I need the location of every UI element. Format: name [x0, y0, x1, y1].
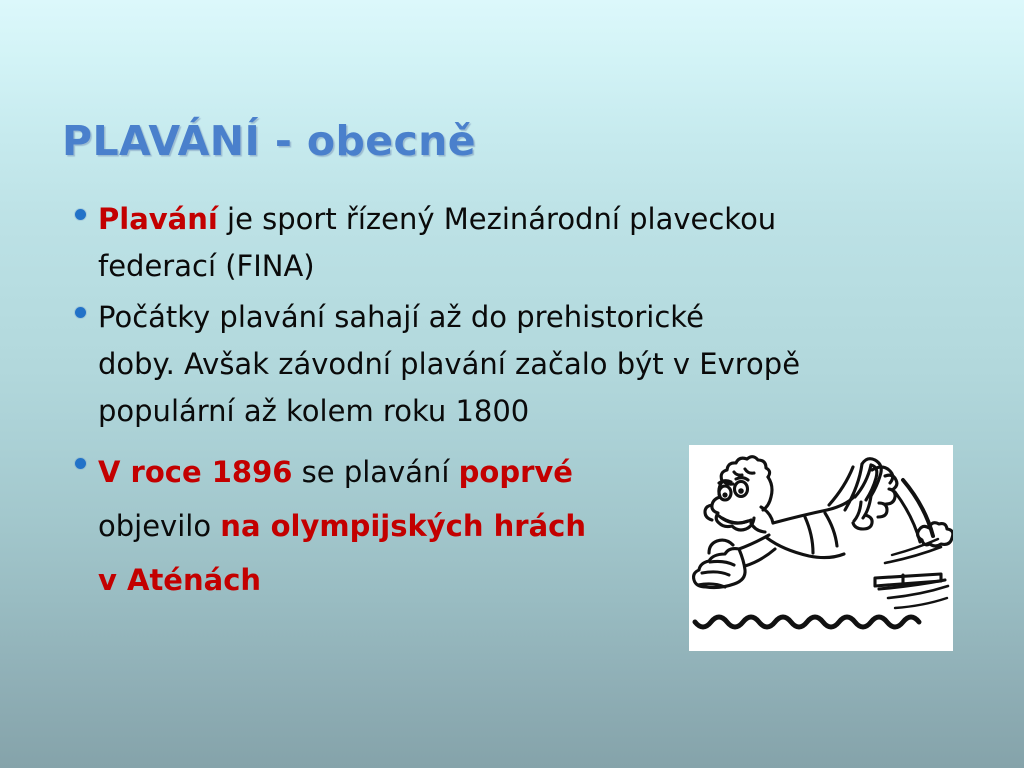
bullet-text-run: federací (FINA)	[98, 249, 315, 283]
bullet-dot-icon	[75, 209, 86, 220]
bullet-text-run: poprvé	[459, 455, 573, 489]
bullet-line: Plavání je sport řízený Mezinárodní plav…	[98, 196, 666, 243]
swimmer-diving-illustration	[689, 445, 953, 651]
bullet-line: objevilo na olympijských hrách	[98, 499, 666, 553]
list-item: Plavání je sport řízený Mezinárodní plav…	[66, 196, 666, 290]
bullet-line: v Aténách	[98, 553, 666, 607]
swimmer-diving-icon	[689, 445, 953, 651]
bullet-text-run: je sport řízený Mezinárodní plaveckou	[218, 202, 776, 236]
presentation-slide: PLAVÁNÍ - obecně Plavání je sport řízený…	[0, 0, 1024, 768]
page-title: PLAVÁNÍ - obecně	[62, 117, 476, 165]
bullet-text-run: se plavání	[292, 455, 458, 489]
bullet-text-run: populární až kolem roku 1800	[98, 394, 529, 428]
bullet-text-run: doby. Avšak závodní plavání začalo být v…	[98, 347, 800, 381]
bullet-dot-icon	[75, 458, 86, 469]
bullet-text-run: na olympijských hrách	[220, 509, 586, 543]
bullet-list: Plavání je sport řízený Mezinárodní plav…	[66, 196, 666, 613]
bullet-text-run: objevilo	[98, 509, 220, 543]
bullet-text-run: Počátky plavání sahají až do prehistoric…	[98, 300, 704, 334]
bullet-dot-icon	[75, 307, 86, 318]
bullet-line: V roce 1896 se plavání poprvé	[98, 445, 666, 499]
bullet-line: federací (FINA)	[98, 243, 666, 290]
bullet-line: Počátky plavání sahají až do prehistoric…	[98, 294, 666, 341]
list-item: V roce 1896 se plavání poprvé objevilo n…	[66, 445, 666, 607]
bullet-text-run: V roce 1896	[98, 455, 292, 489]
bullet-text-run: Plavání	[98, 202, 218, 236]
list-item: Počátky plavání sahají až do prehistoric…	[66, 294, 666, 435]
bullet-line: populární až kolem roku 1800	[98, 388, 666, 435]
bullet-text-run: v Aténách	[98, 563, 261, 597]
bullet-line: doby. Avšak závodní plavání začalo být v…	[98, 341, 666, 388]
